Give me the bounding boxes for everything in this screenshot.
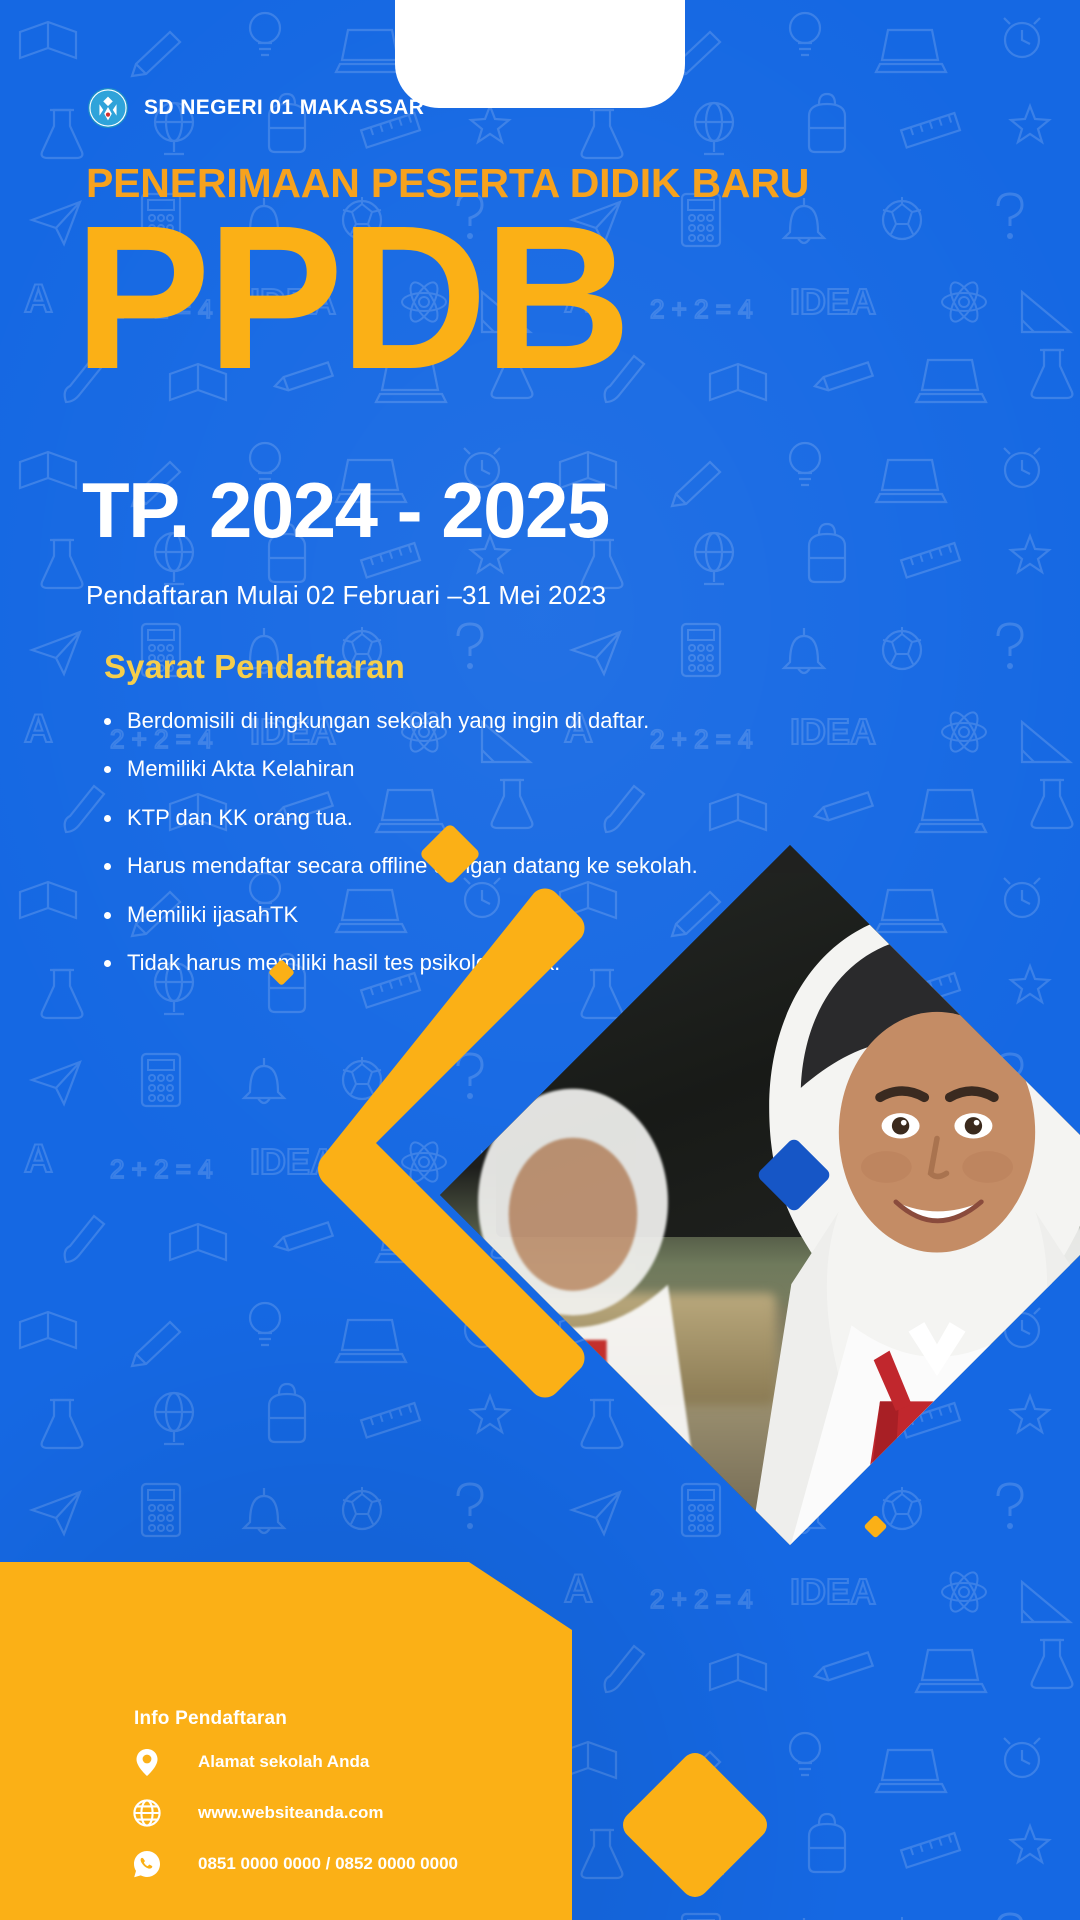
tut-wuri-handayani-emblem-icon bbox=[88, 88, 128, 128]
photo-diamond-mask bbox=[440, 845, 1080, 1545]
school-name: SD NEGERI 01 MAKASSAR bbox=[144, 96, 424, 120]
footer-title: Info Pendaftaran bbox=[134, 1708, 287, 1730]
brand-row: SD NEGERI 01 MAKASSAR bbox=[88, 88, 424, 128]
requirement-text: KTP dan KK orang tua. bbox=[127, 805, 353, 831]
requirement-text: Memiliki Akta Kelahiran bbox=[127, 756, 354, 782]
contact-website-text: www.websiteanda.com bbox=[198, 1803, 383, 1823]
contact-address-text: Alamat sekolah Anda bbox=[198, 1752, 369, 1772]
photo-image bbox=[440, 845, 1080, 1545]
requirement-text: Berdomisili di lingkungan sekolah yang i… bbox=[127, 708, 649, 734]
bullet-icon bbox=[104, 718, 111, 725]
bullet-icon bbox=[104, 815, 111, 822]
ppdb-acronym: PPDB bbox=[74, 195, 628, 400]
requirement-text: Memiliki ijasahTK bbox=[127, 902, 298, 928]
top-notch-shape bbox=[395, 0, 685, 108]
list-item: Memiliki Akta Kelahiran bbox=[104, 756, 824, 782]
decorative-diamond-large bbox=[617, 1747, 773, 1903]
ppdb-poster: A 2 + 2 = 4 IDEA bbox=[0, 0, 1080, 1920]
bullet-icon bbox=[104, 960, 111, 967]
contact-phone-text: 0851 0000 0000 / 0852 0000 0000 bbox=[198, 1854, 458, 1874]
contact-address: Alamat sekolah Anda bbox=[130, 1745, 369, 1779]
location-pin-icon bbox=[130, 1745, 164, 1779]
bullet-icon bbox=[104, 912, 111, 919]
requirements-title: Syarat Pendaftaran bbox=[104, 648, 405, 686]
student-photo bbox=[440, 845, 1080, 1545]
bullet-icon bbox=[104, 766, 111, 773]
globe-icon bbox=[130, 1796, 164, 1830]
contact-phone[interactable]: 0851 0000 0000 / 0852 0000 0000 bbox=[130, 1847, 458, 1881]
student-foreground bbox=[678, 901, 1080, 1545]
bullet-icon bbox=[104, 863, 111, 870]
list-item: KTP dan KK orang tua. bbox=[104, 805, 824, 831]
school-year: TP. 2024 - 2025 bbox=[82, 465, 609, 556]
registration-period: Pendaftaran Mulai 02 Februari –31 Mei 20… bbox=[86, 580, 606, 611]
list-item: Berdomisili di lingkungan sekolah yang i… bbox=[104, 708, 824, 734]
contact-website[interactable]: www.websiteanda.com bbox=[130, 1796, 383, 1830]
whatsapp-phone-icon bbox=[130, 1847, 164, 1881]
